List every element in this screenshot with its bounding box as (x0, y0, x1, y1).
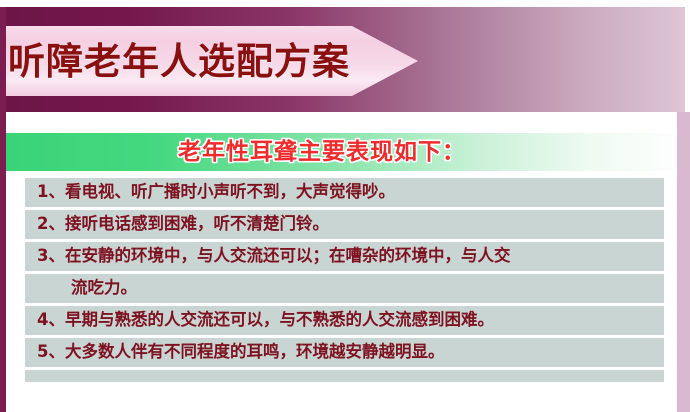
list-item-text: 1、看电视、听广播时小声听不到，大声觉得吵。 (25, 184, 395, 201)
list-item: 1、看电视、听广播时小声听不到，大声觉得吵。 (25, 178, 664, 210)
list-item: 5、大多数人伴有不同程度的耳鸣，环境越安静越明显。 (25, 338, 664, 370)
list-item-text: 流吃力。 (25, 280, 137, 297)
list-item-text: 3、在安静的环境中，与人交流还可以；在嘈杂的环境中，与人交 (25, 248, 510, 265)
symptom-list: 1、看电视、听广播时小声听不到，大声觉得吵。 2、接听电话感到困难，听不清楚门铃… (25, 178, 664, 382)
page-title: 听障老年人选配方案 (0, 43, 350, 80)
list-item-text: 5、大多数人伴有不同程度的耳鸣，环境越安静越明显。 (25, 344, 444, 361)
header-banner-arrow-plate: 听障老年人选配方案 (0, 26, 418, 96)
list-item: 3、在安静的环境中，与人交流还可以；在嘈杂的环境中，与人交 (25, 242, 664, 274)
list-item-text: 4、早期与熟悉的人交流还可以，与不熟悉的人交流感到困难。 (25, 312, 494, 329)
right-accent-rail (677, 112, 690, 412)
left-accent-rail (0, 7, 6, 412)
subtitle-text: 老年性耳聋主要表现如下： (178, 141, 466, 164)
list-item: 2、接听电话感到困难，听不清楚门铃。 (25, 210, 664, 242)
header-banner: 听障老年人选配方案 (0, 7, 685, 112)
slide-page: 听障老年人选配方案 老年性耳聋主要表现如下： 1、看电视、听广播时小声听不到，大… (0, 0, 690, 412)
list-bottom-filler (25, 370, 664, 382)
list-item-continuation: 流吃力。 (25, 274, 664, 306)
list-item-text: 2、接听电话感到困难，听不清楚门铃。 (25, 216, 329, 233)
subtitle-bar: 老年性耳聋主要表现如下： (6, 133, 685, 171)
list-item: 4、早期与熟悉的人交流还可以，与不熟悉的人交流感到困难。 (25, 306, 664, 338)
